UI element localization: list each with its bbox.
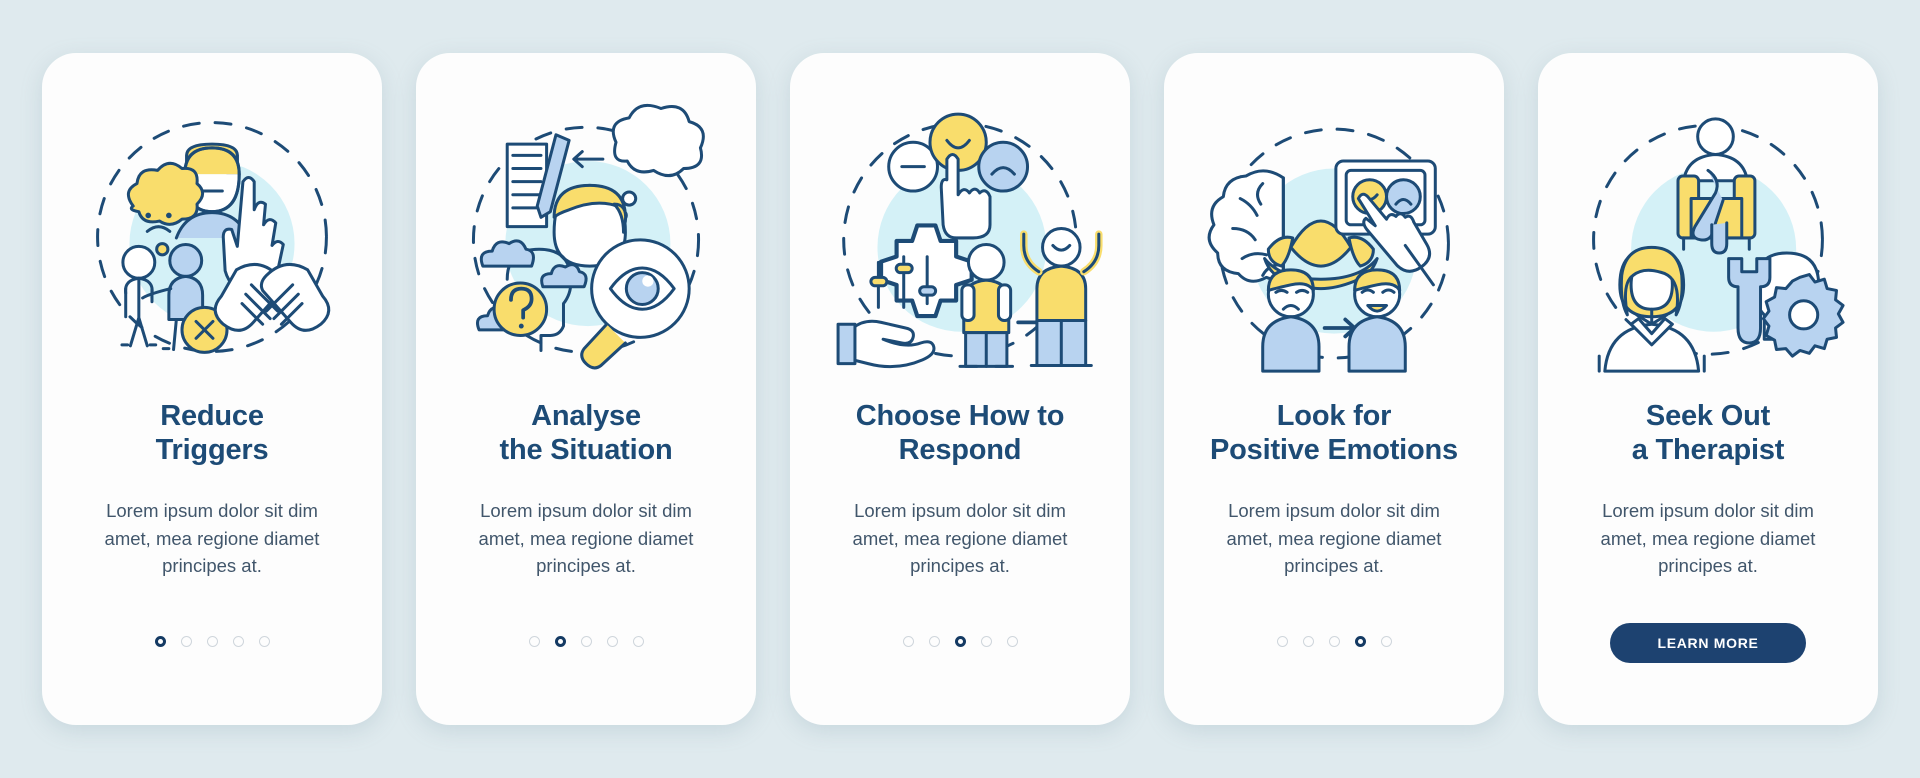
pagination-dot-1[interactable]	[1277, 636, 1288, 647]
pagination-dot-1[interactable]	[529, 636, 540, 647]
card-body: Lorem ipsum dolor sit dim amet, mea regi…	[455, 497, 717, 579]
pagination-dot-4[interactable]	[1355, 636, 1366, 647]
pagination-dot-4[interactable]	[981, 636, 992, 647]
pagination-dot-3[interactable]	[581, 636, 592, 647]
card-title: Look for Positive Emotions	[1210, 399, 1458, 467]
onboarding-card-choose-how-to-respond: Choose How to Respond Lorem ipsum dolor …	[790, 53, 1130, 725]
card-title: Choose How to Respond	[856, 399, 1064, 467]
look-for-positive-emotions-illustration	[1190, 101, 1478, 373]
pagination-dots[interactable]	[42, 636, 382, 647]
onboarding-card-analyse-the-situation: Analyse the Situation Lorem ipsum dolor …	[416, 53, 756, 725]
seek-out-a-therapist-illustration	[1564, 101, 1852, 373]
analyse-situation-illustration	[442, 101, 730, 373]
card-title: Reduce Triggers	[156, 399, 269, 467]
pagination-dots[interactable]	[416, 636, 756, 647]
pagination-dot-1[interactable]	[155, 636, 166, 647]
card-body: Lorem ipsum dolor sit dim amet, mea regi…	[829, 497, 1091, 579]
card-body: Lorem ipsum dolor sit dim amet, mea regi…	[81, 497, 343, 579]
pagination-dot-4[interactable]	[233, 636, 244, 647]
onboarding-screens-board: Reduce Triggers Lorem ipsum dolor sit di…	[0, 0, 1920, 778]
card-title: Seek Out a Therapist	[1632, 399, 1785, 467]
card-title: Analyse the Situation	[499, 399, 672, 467]
choose-how-to-respond-illustration	[816, 101, 1104, 373]
reduce-triggers-illustration	[68, 101, 356, 373]
pagination-dot-2[interactable]	[555, 636, 566, 647]
pagination-dots[interactable]	[790, 636, 1130, 647]
learn-more-button[interactable]: LEARN MORE	[1610, 623, 1806, 663]
pagination-dot-3[interactable]	[207, 636, 218, 647]
pagination-dot-5[interactable]	[633, 636, 644, 647]
onboarding-card-look-for-positive-emotions: Look for Positive Emotions Lorem ipsum d…	[1164, 53, 1504, 725]
pagination-dot-2[interactable]	[181, 636, 192, 647]
onboarding-card-seek-out-a-therapist: Seek Out a Therapist Lorem ipsum dolor s…	[1538, 53, 1878, 725]
pagination-dot-4[interactable]	[607, 636, 618, 647]
pagination-dot-1[interactable]	[903, 636, 914, 647]
pagination-dot-2[interactable]	[1303, 636, 1314, 647]
pagination-dot-3[interactable]	[1329, 636, 1340, 647]
pagination-dot-5[interactable]	[259, 636, 270, 647]
card-body: Lorem ipsum dolor sit dim amet, mea regi…	[1203, 497, 1465, 579]
onboarding-card-reduce-triggers: Reduce Triggers Lorem ipsum dolor sit di…	[42, 53, 382, 725]
pagination-dot-5[interactable]	[1381, 636, 1392, 647]
pagination-dot-3[interactable]	[955, 636, 966, 647]
pagination-dot-5[interactable]	[1007, 636, 1018, 647]
pagination-dots[interactable]	[1164, 636, 1504, 647]
card-body: Lorem ipsum dolor sit dim amet, mea regi…	[1577, 497, 1839, 579]
pagination-dot-2[interactable]	[929, 636, 940, 647]
